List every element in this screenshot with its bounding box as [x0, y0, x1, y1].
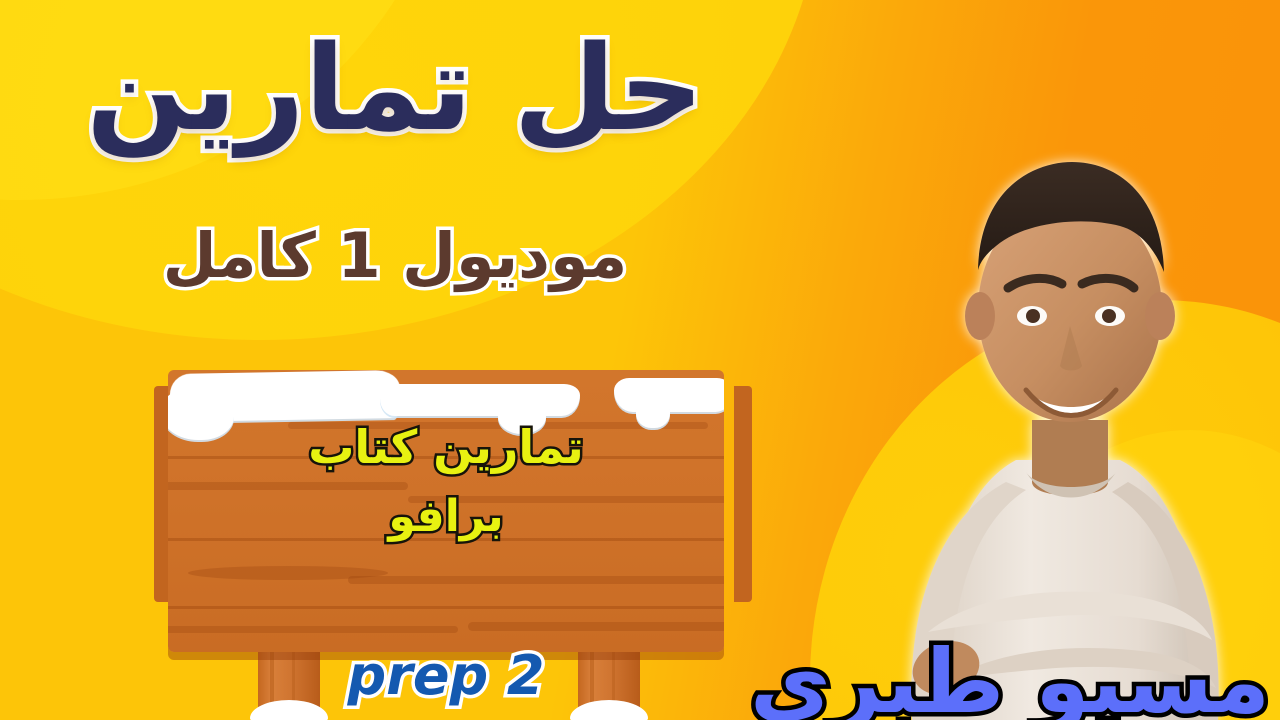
page-title: حل تمارين — [0, 22, 790, 154]
sign-line-2: برافو — [168, 483, 724, 551]
presenter-pupil-right — [1102, 309, 1116, 323]
sign-line-1: تمارين كتاب — [168, 412, 724, 483]
plank-seam-3 — [168, 606, 724, 609]
presenter-photo — [820, 20, 1280, 720]
thumbnail-canvas: حل تمارين موديول 1 كامل — [0, 0, 1280, 720]
page-subtitle: موديول 1 كامل — [0, 222, 790, 290]
presenter-name: مسيو طبري — [750, 638, 1270, 720]
grade-label: prep 2 — [168, 644, 724, 707]
presenter-pupil-left — [1026, 309, 1040, 323]
wood-grain — [168, 626, 458, 633]
presenter-ear-right — [1145, 292, 1175, 340]
sign-text-block: تمارين كتاب برافو — [168, 412, 724, 551]
wood-grain — [468, 622, 724, 631]
wood-grain — [348, 576, 724, 584]
presenter-ear-left — [965, 292, 995, 340]
board-edge-right — [734, 386, 752, 602]
